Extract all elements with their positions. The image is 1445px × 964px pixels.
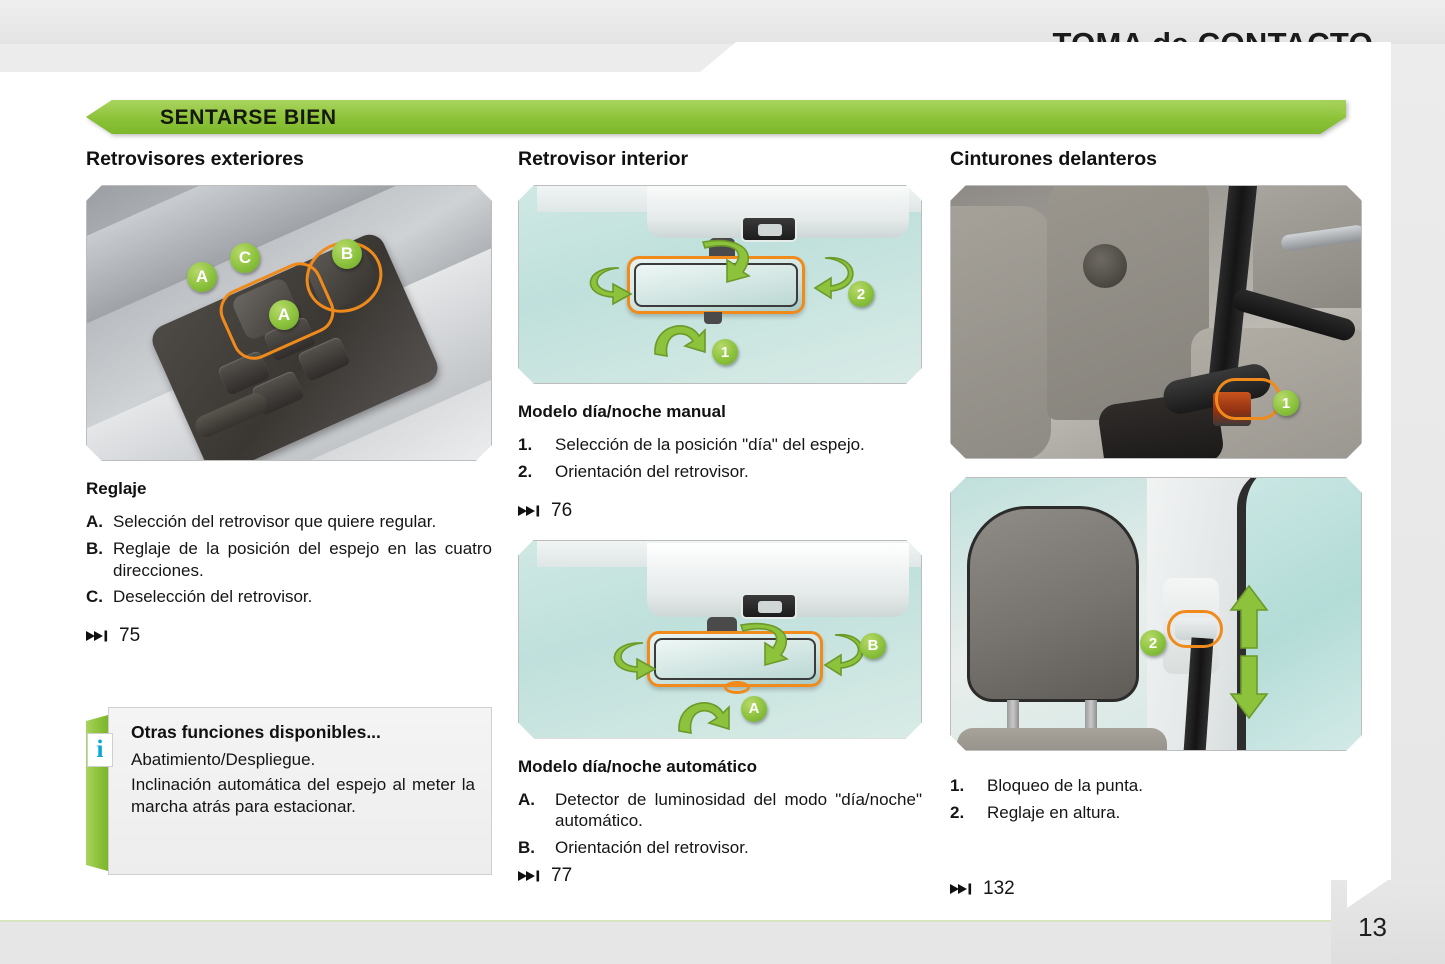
page-ref-number: 132 bbox=[983, 878, 1015, 900]
page-ref-icon bbox=[518, 869, 542, 883]
info-box-line: Inclinación automática del espejo al met… bbox=[131, 774, 475, 817]
seat-belt-height-adjuster-figure: 2 bbox=[950, 477, 1362, 751]
callout-badge-a-bottom: A bbox=[269, 300, 299, 330]
highlight-ring-buckle bbox=[1215, 378, 1281, 420]
list-seatbelt: 1. Bloqueo de la punta. 2. Reglaje en al… bbox=[950, 775, 1362, 824]
page-root: TOMA de CONTACTO 13 SENTARSE BIEN Retrov… bbox=[0, 0, 1445, 964]
page-ref-number: 75 bbox=[119, 625, 140, 647]
list-item-text: Reglaje en altura. bbox=[987, 802, 1362, 824]
column-title-exterior-mirrors: Retrovisores exteriores bbox=[86, 148, 492, 171]
list-item: 1. Bloqueo de la punta. bbox=[950, 775, 1362, 797]
list-item: 2. Reglaje en altura. bbox=[950, 802, 1362, 824]
list-item: A. Detector de luminosidad del modo "día… bbox=[518, 789, 922, 833]
list-item-text: Orientación del retrovisor. bbox=[555, 837, 922, 859]
overhead-console-button bbox=[741, 593, 797, 619]
door-panel-mirror-controls-figure: A C B A bbox=[86, 185, 492, 461]
rear-seat-cushion bbox=[950, 206, 1051, 459]
list-item: C. Deselección del retrovisor. bbox=[86, 586, 492, 608]
callout-badge-c: C bbox=[230, 243, 260, 273]
info-box-line: Abatimiento/Despliegue. bbox=[131, 749, 475, 770]
column-front-seatbelts: Cinturones delanteros 1 bbox=[950, 148, 1362, 900]
info-box-body: Otras funciones disponibles... Abatimien… bbox=[108, 707, 492, 875]
rotation-arrow-bottom-icon bbox=[671, 687, 743, 739]
callout-badge-b: B bbox=[860, 633, 886, 659]
section-banner: SENTARSE BIEN bbox=[86, 100, 1346, 134]
subtitle-automatic-model: Modelo día/noche automático bbox=[518, 757, 922, 777]
arrow-up-icon bbox=[1227, 584, 1271, 650]
list-item: B. Reglaje de la posición del espejo en … bbox=[86, 538, 492, 582]
highlight-ring-adjuster bbox=[1167, 610, 1223, 648]
list-automatic-model: A. Detector de luminosidad del modo "día… bbox=[518, 789, 922, 859]
list-item-mark: A. bbox=[518, 789, 555, 833]
page-ref-number: 77 bbox=[551, 865, 572, 887]
list-item-mark: B. bbox=[86, 538, 113, 582]
list-item-text: Orientación del retrovisor. bbox=[555, 461, 922, 483]
section-banner-label: SENTARSE BIEN bbox=[160, 106, 337, 130]
list-item-text: Selección de la posición "día" del espej… bbox=[555, 434, 922, 456]
callout-badge-2: 2 bbox=[848, 281, 874, 307]
list-item-mark: A. bbox=[86, 511, 113, 533]
page-reference-77[interactable]: 77 bbox=[518, 865, 922, 887]
headrest bbox=[967, 506, 1139, 702]
list-item-mark: B. bbox=[518, 837, 555, 859]
list-reglaje: A. Selección del retrovisor que quiere r… bbox=[86, 511, 492, 608]
subtitle-manual-model: Modelo día/noche manual bbox=[518, 402, 922, 422]
rotation-arrow-bottom-icon bbox=[647, 310, 719, 366]
page-reference-132[interactable]: 132 bbox=[950, 878, 1362, 900]
rotation-arrow-left-icon bbox=[579, 264, 649, 324]
rotation-arrow-left-icon bbox=[603, 639, 673, 699]
page-ref-icon bbox=[950, 882, 974, 896]
list-item: 2. Orientación del retrovisor. bbox=[518, 461, 922, 483]
callout-badge-1: 1 bbox=[712, 339, 738, 365]
arrow-down-icon bbox=[1227, 654, 1271, 720]
column-title-interior-mirror: Retrovisor interior bbox=[518, 148, 922, 171]
rotation-arrow-top-icon bbox=[735, 617, 807, 679]
list-item: 1. Selección de la posición "día" del es… bbox=[518, 434, 922, 456]
page-ref-icon bbox=[518, 504, 542, 518]
interior-mirror-manual-figure: 1 2 bbox=[518, 185, 922, 384]
column-interior-mirror: Retrovisor interior 1 2 bbox=[518, 148, 922, 887]
page-ref-number: 76 bbox=[551, 500, 572, 522]
list-item-mark: 1. bbox=[950, 775, 987, 797]
page-reference-75[interactable]: 75 bbox=[86, 625, 492, 647]
callout-badge-b: B bbox=[332, 239, 362, 269]
list-item-mark: 2. bbox=[518, 461, 555, 483]
callout-badge-2: 2 bbox=[1140, 630, 1166, 656]
subtitle-reglaje: Reglaje bbox=[86, 479, 492, 499]
list-item-mark: 2. bbox=[950, 802, 987, 824]
page-reference-76[interactable]: 76 bbox=[518, 500, 922, 522]
seat-back-top bbox=[957, 728, 1167, 751]
list-item-mark: 1. bbox=[518, 434, 555, 456]
callout-badge-a-left: A bbox=[187, 262, 217, 292]
page-ref-icon bbox=[86, 629, 110, 643]
list-item-text: Selección del retrovisor que quiere regu… bbox=[113, 511, 492, 533]
interior-mirror-automatic-figure: A B bbox=[518, 540, 922, 739]
column-exterior-mirrors: Retrovisores exteriores A C B A Reglaje … bbox=[86, 148, 492, 875]
info-icon: i bbox=[87, 733, 113, 767]
rotation-arrow-top-icon bbox=[697, 234, 769, 296]
info-box-title: Otras funciones disponibles... bbox=[131, 722, 475, 743]
column-title-front-seatbelts: Cinturones delanteros bbox=[950, 148, 1362, 171]
list-item-text: Deselección del retrovisor. bbox=[113, 586, 492, 608]
list-manual-model: 1. Selección de la posición "día" del es… bbox=[518, 434, 922, 483]
seat-belt-buckle-figure: 1 bbox=[950, 185, 1362, 459]
callout-badge-1: 1 bbox=[1273, 390, 1299, 416]
sheet-bottom-rule bbox=[0, 920, 1391, 922]
recline-knob bbox=[1083, 244, 1127, 288]
list-item-text: Detector de luminosidad del modo "día/no… bbox=[555, 789, 922, 833]
list-item-text: Bloqueo de la punta. bbox=[987, 775, 1362, 797]
list-item-text: Reglaje de la posición del espejo en las… bbox=[113, 538, 492, 582]
list-item: B. Orientación del retrovisor. bbox=[518, 837, 922, 859]
list-item: A. Selección del retrovisor que quiere r… bbox=[86, 511, 492, 533]
info-box: i Otras funciones disponibles... Abatimi… bbox=[86, 707, 492, 875]
callout-badge-a: A bbox=[741, 696, 767, 722]
page-number: 13 bbox=[1358, 912, 1387, 943]
list-item-mark: C. bbox=[86, 586, 113, 608]
